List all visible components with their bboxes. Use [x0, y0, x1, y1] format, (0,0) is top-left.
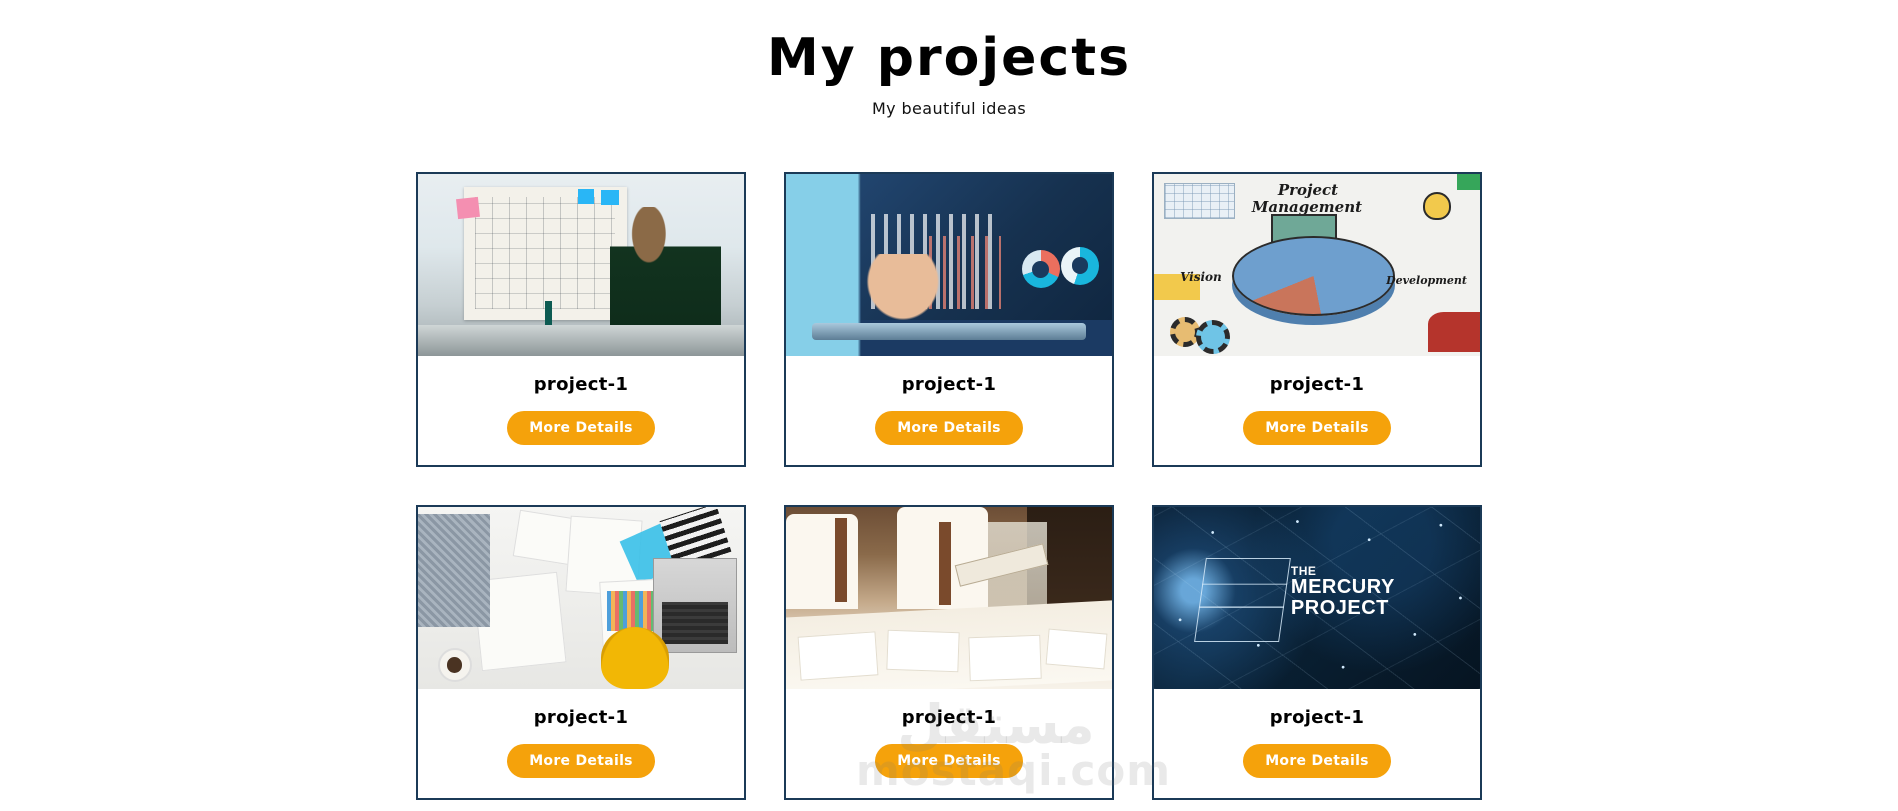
page-subtitle: My beautiful ideas: [0, 99, 1898, 118]
pie-chart-icon: [1232, 236, 1395, 316]
business-analytics-tablet-photo: [786, 174, 1112, 356]
hand-shape: [1428, 312, 1480, 352]
document-shape: [1045, 628, 1107, 669]
illustration-heading-line2: Management: [1252, 198, 1362, 216]
sticky-note-pink-icon: [456, 197, 480, 219]
necktie-shape: [835, 518, 847, 602]
card-body: project-1 More Details: [786, 356, 1112, 465]
arm-shape: [418, 514, 490, 627]
business-meeting-documents-photo: [786, 507, 1112, 689]
projects-page: My projects My beautiful ideas project-1…: [0, 0, 1898, 811]
gear-icon: [1196, 320, 1230, 354]
card-title: project-1: [534, 374, 628, 395]
whiteboard-shape: [464, 187, 627, 320]
necktie-shape: [939, 522, 951, 606]
mercury-wordmark-line3: PROJECT: [1291, 598, 1395, 618]
tablet-shape: [812, 323, 1086, 339]
whiteboard-workshop-photo: [418, 174, 744, 356]
project-card[interactable]: THE MERCURY PROJECT project-1 More Detai…: [1152, 505, 1482, 800]
illustration-heading-line1: Project: [1278, 181, 1338, 199]
mercury-wordmark: THE MERCURY PROJECT: [1291, 565, 1395, 618]
mercury-logo-icon: [1194, 558, 1291, 642]
page-title: My projects: [0, 30, 1898, 87]
document-shape: [798, 632, 879, 681]
laptop-icon: [653, 558, 738, 653]
card-body: project-1 More Details: [418, 356, 744, 465]
hand-shape: [864, 254, 942, 323]
card-body: project-1 More Details: [786, 689, 1112, 798]
hard-hat-icon: [601, 627, 669, 689]
line-chart-icon: [1164, 183, 1236, 219]
project-management-illustration: Project Management Vision Development: [1154, 174, 1480, 356]
donut-chart-icon: [1061, 247, 1099, 285]
lightbulb-icon: [1423, 192, 1451, 220]
card-title: project-1: [902, 374, 996, 395]
person-shirt-shape: [786, 514, 858, 609]
more-details-button[interactable]: More Details: [1243, 744, 1391, 778]
project-card[interactable]: project-1 More Details: [416, 172, 746, 467]
more-details-button[interactable]: More Details: [507, 411, 655, 445]
card-body: project-1 More Details: [1154, 689, 1480, 798]
illustration-label-left: Vision: [1180, 270, 1222, 284]
more-details-button[interactable]: More Details: [875, 411, 1023, 445]
more-details-button[interactable]: More Details: [1243, 411, 1391, 445]
project-card[interactable]: project-1 More Details: [784, 505, 1114, 800]
team-table-blueprints-photo: [418, 507, 744, 689]
card-title: project-1: [902, 707, 996, 728]
green-flag-shape: [1457, 174, 1480, 190]
sticky-note-cyan-icon: [601, 190, 619, 205]
more-details-button[interactable]: More Details: [507, 744, 655, 778]
project-card[interactable]: project-1 More Details: [784, 172, 1114, 467]
bar-chart-icon: [607, 591, 659, 631]
card-body: project-1 More Details: [418, 689, 744, 798]
project-card[interactable]: project-1 More Details: [416, 505, 746, 800]
document-shape: [886, 630, 959, 673]
desk-shape: [418, 325, 744, 356]
mercury-project-banner: THE MERCURY PROJECT: [1154, 507, 1480, 689]
illustration-label-right: Development: [1386, 274, 1467, 287]
card-title: project-1: [534, 707, 628, 728]
projects-grid: project-1 More Details project-1 More De…: [416, 172, 1482, 800]
more-details-button[interactable]: More Details: [875, 744, 1023, 778]
card-title: project-1: [1270, 707, 1364, 728]
mercury-wordmark-line2: MERCURY: [1291, 577, 1395, 597]
page-header: My projects My beautiful ideas: [0, 0, 1898, 118]
document-shape: [968, 635, 1041, 681]
card-body: project-1 More Details: [1154, 356, 1480, 465]
sticky-note-cyan-icon: [578, 189, 594, 204]
coffee-cup-icon: [438, 648, 472, 682]
project-card[interactable]: Project Management Vision Development pr…: [1152, 172, 1482, 467]
card-title: project-1: [1270, 374, 1364, 395]
